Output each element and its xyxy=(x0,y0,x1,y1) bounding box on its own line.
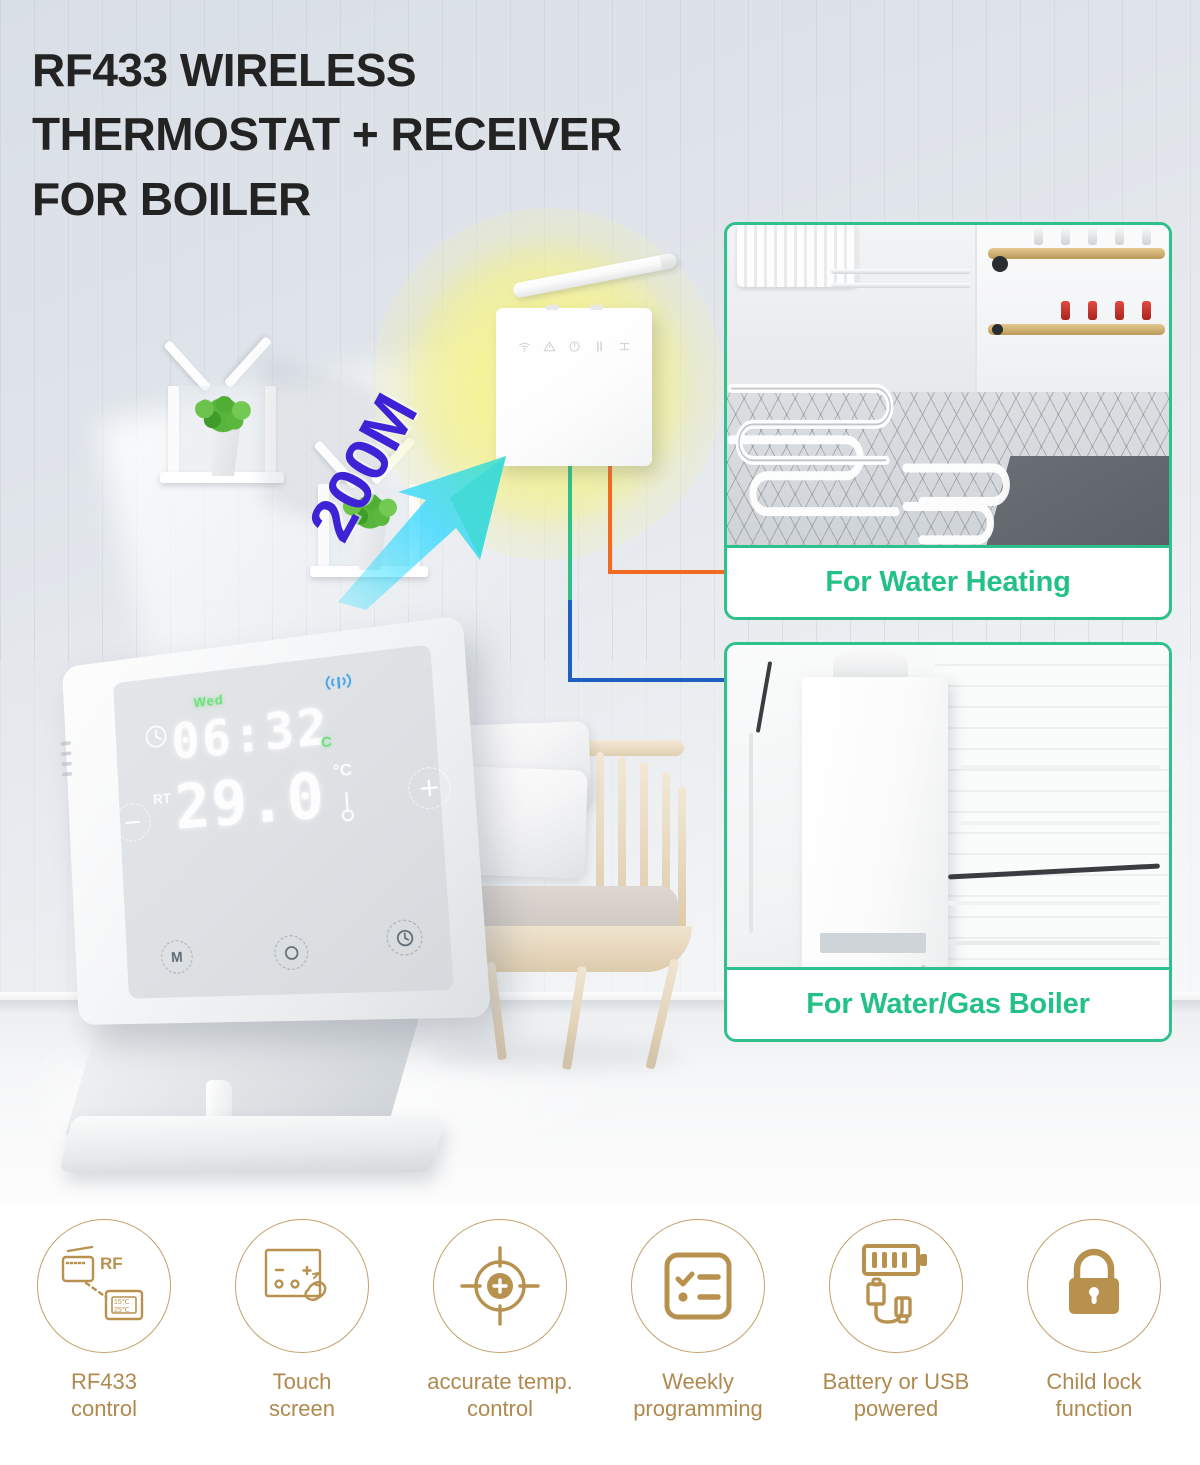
checklist-icon xyxy=(658,1246,738,1326)
feature-icon-ring xyxy=(235,1219,369,1353)
heating-icon xyxy=(593,340,606,353)
wire-blue-vertical xyxy=(568,600,572,682)
plus-icon xyxy=(418,777,441,800)
feature-icon-ring xyxy=(631,1219,765,1353)
feature-icon-ring xyxy=(433,1219,567,1353)
wire-orange-vertical xyxy=(608,462,612,574)
lcd-day-of-week: Wed xyxy=(193,691,224,710)
rf-receiver-module[interactable] xyxy=(496,308,652,466)
touch-screen-icon xyxy=(256,1244,348,1328)
feature-accurate-temp: accurate temp. control xyxy=(400,1219,600,1423)
battery-usb-icon xyxy=(852,1240,940,1332)
feature-rf433-control: RF 15℃ 25℃ RF433 control xyxy=(4,1219,204,1423)
feature-child-lock: Child lock function xyxy=(994,1219,1194,1423)
page-title: RF433 WIRELESS THERMOSTAT + RECEIVER FOR… xyxy=(32,38,622,231)
feature-icon-ring: RF 15℃ 25℃ xyxy=(37,1219,171,1353)
timer-clock-icon xyxy=(394,927,415,948)
padlock-icon xyxy=(1057,1244,1131,1328)
lcd-temperature: 29.0 xyxy=(173,758,328,843)
feature-touch-screen: Touch screen xyxy=(202,1219,402,1423)
thermometer-icon xyxy=(338,788,356,824)
rf-badge-lo: 25℃ xyxy=(114,1307,130,1314)
lcd-rt-label: RT xyxy=(153,790,172,808)
clock-icon xyxy=(144,723,169,750)
crosshair-icon xyxy=(457,1243,543,1329)
feature-label: RF433 control xyxy=(71,1369,137,1423)
feature-weekly-programming: Weekly programming xyxy=(598,1219,798,1423)
house-shelf-upper xyxy=(168,340,276,500)
feature-label: accurate temp. control xyxy=(427,1369,573,1423)
lcd-unit: °C xyxy=(332,760,353,782)
thermostat-device[interactable]: Wed 06:32 C RT 29.0 °C xyxy=(62,615,492,1044)
lcd-time-flag: C xyxy=(321,733,333,751)
rf-label: RF xyxy=(100,1254,123,1273)
feature-battery-usb: Battery or USB powered xyxy=(796,1219,996,1423)
water-gas-boiler-panel: For Water/Gas Boiler xyxy=(724,642,1172,1042)
feature-label: Weekly programming xyxy=(633,1369,763,1423)
wifi-icon xyxy=(518,340,531,353)
hero-scene: RF433 WIRELESS THERMOSTAT + RECEIVER FOR… xyxy=(0,0,1200,1205)
decrease-temp-button[interactable] xyxy=(114,802,152,843)
water-heating-panel: For Water Heating xyxy=(724,222,1172,620)
fan-icon xyxy=(618,340,631,353)
wire-blue-horizontal xyxy=(568,678,734,682)
power-circle-icon xyxy=(282,944,300,962)
panel-caption: For Water/Gas Boiler xyxy=(727,967,1169,1039)
feature-label: Child lock function xyxy=(1046,1369,1141,1423)
receiver-status-icons xyxy=(496,340,652,353)
minus-icon xyxy=(123,812,142,833)
feature-label: Battery or USB powered xyxy=(823,1369,970,1423)
increase-temp-button[interactable] xyxy=(407,765,452,810)
feature-label: Touch screen xyxy=(269,1369,335,1423)
rf-signal-icon xyxy=(325,670,352,693)
mode-key-glyph: M xyxy=(171,948,183,965)
rf-badge-hi: 15℃ xyxy=(114,1299,130,1306)
warning-triangle-icon xyxy=(543,340,556,353)
rf-remote-icon: RF 15℃ 25℃ xyxy=(56,1243,152,1329)
feature-icon-ring xyxy=(1027,1219,1161,1353)
feature-icon-ring xyxy=(829,1219,963,1353)
feature-strip: RF 15℃ 25℃ RF433 control Touch screen xyxy=(0,1205,1200,1465)
wire-orange-horizontal xyxy=(608,570,734,574)
panel-caption: For Water Heating xyxy=(727,545,1169,617)
power-icon xyxy=(568,340,581,353)
